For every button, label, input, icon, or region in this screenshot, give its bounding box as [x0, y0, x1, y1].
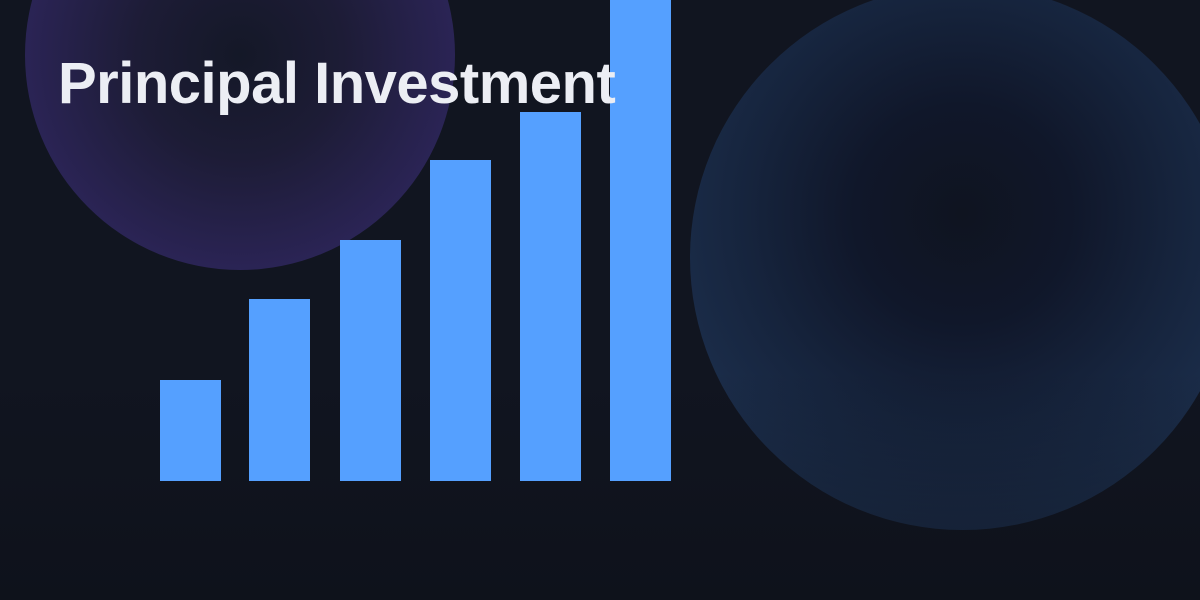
- infographic-canvas: Principal Investment: [0, 0, 1200, 600]
- page-title: Principal Investment: [58, 54, 615, 115]
- bar-6: [610, 0, 671, 481]
- bar-1: [160, 380, 221, 481]
- bar-5: [520, 112, 581, 481]
- bar-3: [340, 240, 401, 481]
- bar-2: [249, 299, 310, 481]
- bar-4: [430, 160, 491, 481]
